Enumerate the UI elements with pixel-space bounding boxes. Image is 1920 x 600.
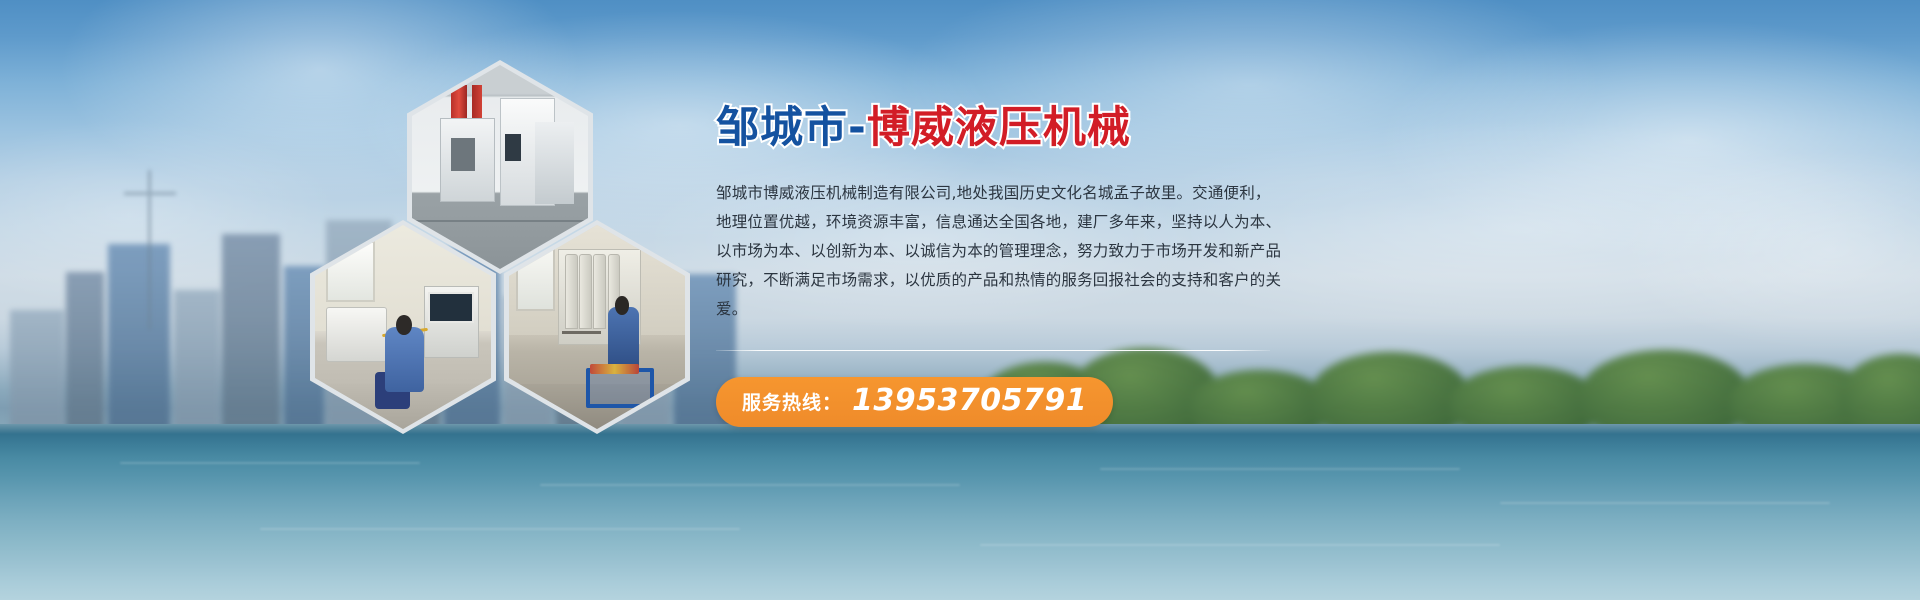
company-title: 邹城市-博威液压机械 [716, 104, 1316, 153]
hexagon-photo-cluster [310, 60, 690, 440]
service-hotline-button[interactable]: 服务热线： 13953705791 [716, 377, 1113, 427]
title-main: 博威液压机械 [867, 103, 1131, 153]
construction-crane [120, 170, 180, 330]
cnc-machining-center-image [412, 65, 588, 269]
company-description: 邹城市博威液压机械制造有限公司,地处我国历史文化名城孟子故里。交通便利，地理位置… [716, 179, 1284, 324]
section-divider [716, 350, 1270, 351]
river-water [0, 424, 1920, 600]
hero-banner: 邹城市-博威液压机械 邹城市博威液压机械制造有限公司,地处我国历史文化名城孟子故… [0, 0, 1920, 600]
hotline-number: 13953705791 [852, 386, 1087, 416]
banner-text-column: 邹城市-博威液压机械 邹城市博威液压机械制造有限公司,地处我国历史文化名城孟子故… [716, 104, 1316, 427]
title-prefix: 邹城市- [716, 103, 867, 153]
laboratory-technician-image [315, 225, 491, 429]
hydraulic-test-bench-image [509, 225, 685, 429]
hotline-label: 服务热线： [742, 388, 842, 415]
